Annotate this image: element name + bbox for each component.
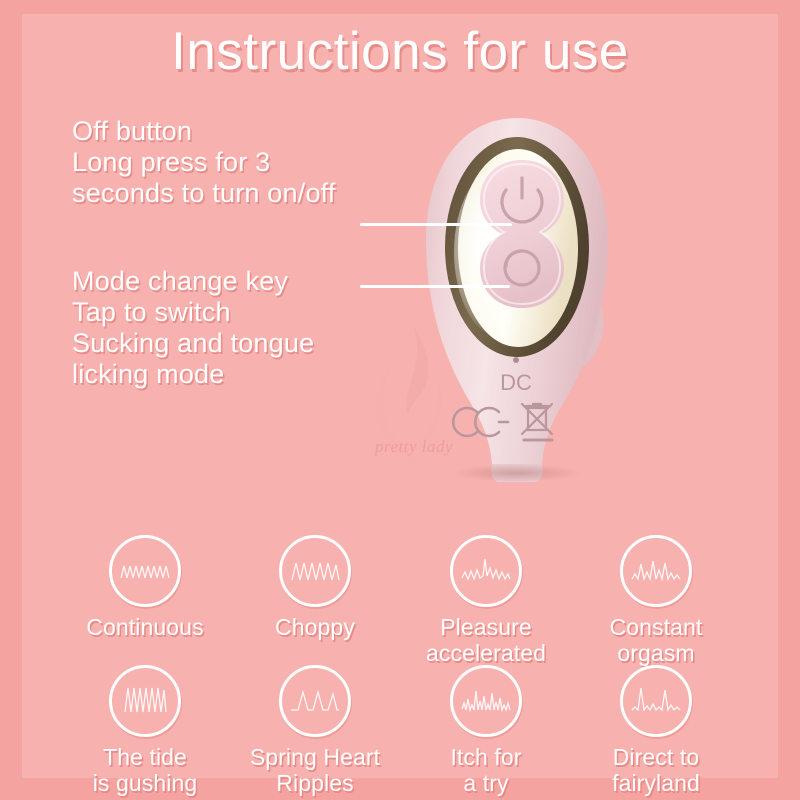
leader-line-power bbox=[360, 223, 512, 226]
instruction-poster: Instructions for use pretty lady bbox=[0, 0, 800, 800]
waveform-jitter-icon bbox=[450, 665, 522, 737]
charging-port-dot bbox=[513, 357, 519, 363]
mode-item-continuous[interactable]: Continuous bbox=[57, 535, 233, 640]
callout-line: Mode change key bbox=[72, 266, 402, 297]
mode-label: Direct to fairyland bbox=[568, 744, 744, 796]
callout-line: Long press for 3 bbox=[72, 147, 412, 178]
mode-label-line: Constant bbox=[610, 614, 703, 640]
mode-label: Itch for a try bbox=[398, 744, 574, 796]
mode-item-pleasure-accelerated[interactable]: Pleasure accelerated bbox=[398, 535, 574, 666]
mode-label-line: Spring Heart bbox=[250, 744, 380, 770]
mode-label-line: Itch for bbox=[450, 744, 521, 770]
mode-label-line: accelerated bbox=[426, 640, 546, 666]
mode-item-constant-orgasm[interactable]: Constant orgasm bbox=[568, 535, 744, 666]
ce-mark bbox=[453, 408, 508, 436]
mode-label-line: Ripples bbox=[276, 770, 353, 796]
waveform-spike-icon bbox=[450, 535, 522, 607]
mode-label-line: fairyland bbox=[612, 770, 700, 796]
waveform-peaks-icon bbox=[620, 535, 692, 607]
mode-label: Pleasure accelerated bbox=[398, 614, 574, 666]
mode-label-line: Direct to bbox=[613, 744, 700, 770]
callout-line: seconds to turn on/off bbox=[72, 178, 412, 209]
device-drop-shadow bbox=[452, 464, 582, 482]
product-device: DC bbox=[392, 112, 642, 487]
callout-mode-button: Mode change key Tap to switch Sucking an… bbox=[72, 266, 402, 390]
mode-item-direct-to-fairyland[interactable]: Direct to fairyland bbox=[568, 665, 744, 796]
mode-label: Continuous bbox=[57, 614, 233, 640]
mode-label: Choppy bbox=[227, 614, 403, 640]
device-illustration: DC bbox=[392, 112, 642, 487]
waveform-continuous-icon bbox=[109, 535, 181, 607]
callout-line: Off button bbox=[72, 116, 412, 147]
callout-line: Sucking and tongue bbox=[72, 328, 402, 359]
mode-item-itch-for-a-try[interactable]: Itch for a try bbox=[398, 665, 574, 796]
mode-label: Spring Heart Ripples bbox=[227, 744, 403, 796]
mode-item-choppy[interactable]: Choppy bbox=[227, 535, 403, 640]
leader-line-mode bbox=[360, 285, 510, 288]
page-title: Instructions for use bbox=[0, 22, 800, 82]
mode-label-line: a try bbox=[463, 770, 508, 796]
mode-item-spring-heart-ripples[interactable]: Spring Heart Ripples bbox=[227, 665, 403, 796]
dc-label: DC bbox=[500, 370, 532, 395]
waveform-rounded-peaks-icon bbox=[279, 665, 351, 737]
vibration-modes-grid: Continuous Choppy Pleasure accelerated bbox=[22, 530, 778, 780]
mode-item-the-tide-is-gushing[interactable]: The tide is gushing bbox=[57, 665, 233, 796]
mode-label-line: The tide bbox=[103, 744, 187, 770]
waveform-two-spikes-icon bbox=[620, 665, 692, 737]
waveform-choppy-icon bbox=[279, 535, 351, 607]
mode-label-line: orgasm bbox=[617, 640, 694, 666]
callout-power-button: Off button Long press for 3 seconds to t… bbox=[72, 116, 412, 209]
callout-line: licking mode bbox=[72, 359, 402, 390]
mode-label: The tide is gushing bbox=[57, 744, 233, 796]
callout-line: Tap to switch bbox=[72, 297, 402, 328]
mode-label-line: is gushing bbox=[93, 770, 198, 796]
mode-label: Constant orgasm bbox=[568, 614, 744, 666]
waveform-tall-dense-icon bbox=[109, 665, 181, 737]
mode-label-line: Pleasure bbox=[440, 614, 532, 640]
